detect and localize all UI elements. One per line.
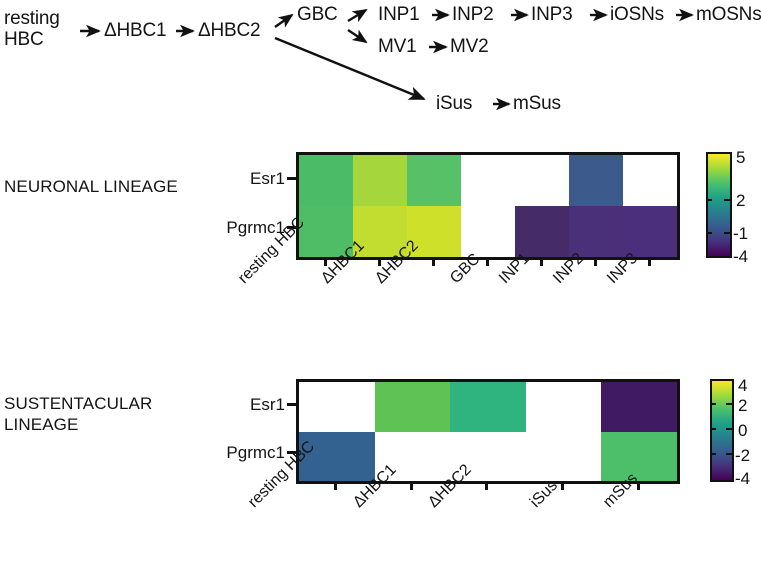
- cbar-tick-right-2-sustentacular: [726, 403, 732, 405]
- heatmap-cell: [526, 432, 602, 482]
- cbar-label-2-sustentacular: 2: [738, 397, 747, 414]
- cbar-label-0-sustentacular: 0: [738, 422, 747, 439]
- xtick-dhbc2-sustentacular: [485, 481, 488, 490]
- cbar-tick-right-0-sustentacular: [726, 428, 732, 430]
- xtick-dhbc1-sustentacular: [410, 481, 413, 490]
- heatmap-cell: [450, 382, 526, 432]
- ytick-esr1-sustentacular: [287, 403, 296, 406]
- heatmap-grid-sustentacular: [296, 379, 680, 484]
- cbar-label-4-sustentacular: 4: [738, 377, 747, 394]
- row-label-esr1-sustentacular: Esr1: [180, 396, 285, 414]
- heatmap-cell: [375, 382, 451, 432]
- cbar-tick-right-neg2-sustentacular: [726, 453, 732, 455]
- heatmap-cell: [526, 382, 602, 432]
- heatmap-cell: [601, 382, 677, 432]
- cbar-label-neg4-sustentacular: -4: [735, 470, 750, 487]
- xtick-resting-hbc-sustentacular: [334, 481, 337, 490]
- cbar-label-neg2-sustentacular: -2: [735, 447, 750, 464]
- sustentacular-lineage-heatmap: Esr1 Pgrmc1 resting HBC ΔHBC1 ΔHBC2 iSus…: [0, 0, 761, 569]
- cbar-tick-left-neg2-sustentacular: [710, 453, 716, 455]
- cbar-tick-left-0-sustentacular: [710, 428, 716, 430]
- xtick-isus-sustentacular: [561, 481, 564, 490]
- heatmap-cell: [601, 432, 677, 482]
- cbar-tick-left-2-sustentacular: [710, 403, 716, 405]
- heatmap-cell: [299, 382, 375, 432]
- colorbar-sustentacular: [710, 379, 734, 482]
- figure-root: resting HBC ΔHBC1 ΔHBC2 GBC INP1 INP2 IN…: [0, 0, 761, 569]
- row-label-pgrmc1-sustentacular: Pgrmc1: [165, 444, 285, 462]
